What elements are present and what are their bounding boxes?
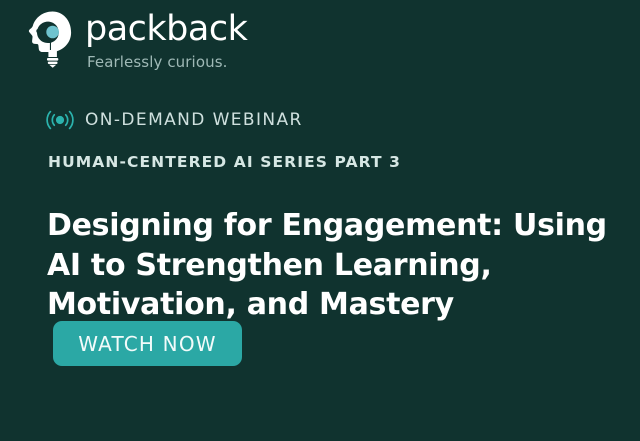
- webinar-promo-banner: packback Fearlessly curious. ON-DEMAND W…: [0, 0, 640, 441]
- series-label: HUMAN-CENTERED AI SERIES PART 3: [48, 155, 401, 171]
- broadcast-icon: [44, 108, 76, 132]
- page-title: Designing for Engagement: Using AI to St…: [47, 206, 607, 325]
- eyebrow-row: ON-DEMAND WEBINAR: [44, 108, 303, 132]
- eyebrow-label: ON-DEMAND WEBINAR: [85, 112, 303, 129]
- logo-wordmark: packback: [85, 12, 247, 47]
- logo-tagline: Fearlessly curious.: [87, 55, 247, 70]
- logo-text-block: packback Fearlessly curious.: [85, 8, 247, 70]
- packback-logo[interactable]: packback Fearlessly curious.: [28, 8, 247, 70]
- watch-now-button[interactable]: WATCH NOW: [53, 321, 242, 366]
- packback-head-lightbulb-logo-icon: [28, 10, 76, 68]
